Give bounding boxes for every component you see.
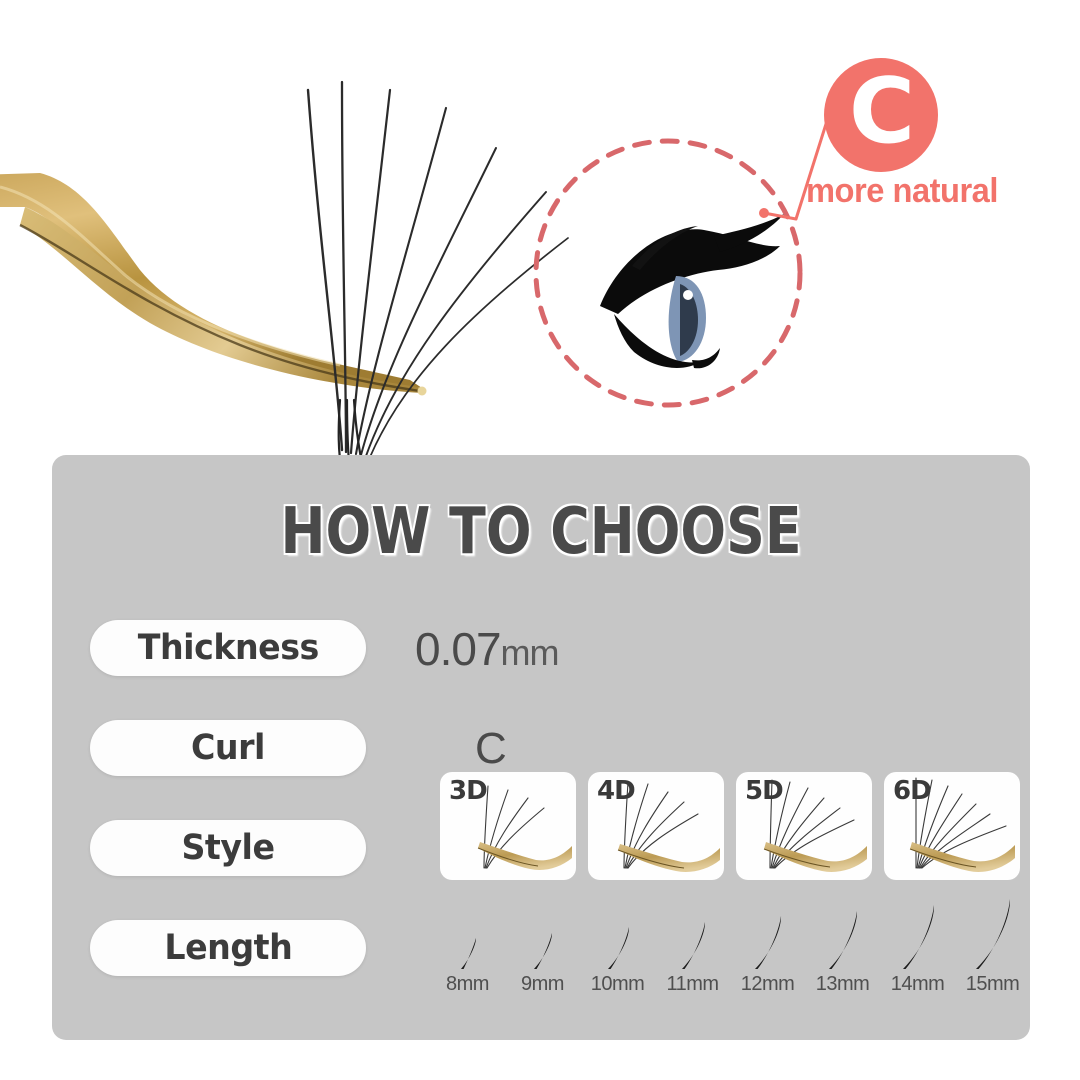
spec-row-thickness: Thickness 0.07mm — [90, 620, 1030, 690]
curl-badge-letter: C — [849, 67, 913, 157]
lash-curve-icon — [677, 917, 709, 971]
spec-label-text: Length — [164, 928, 292, 968]
spec-label-style: Style — [90, 820, 366, 876]
lash-curve-icon — [456, 933, 480, 971]
style-card-4d[interactable]: 4D — [588, 772, 724, 880]
spec-label-text: Style — [181, 828, 274, 868]
length-option[interactable]: 14mm — [880, 892, 955, 996]
length-label: 8mm — [446, 973, 489, 996]
curl-badge: C — [824, 58, 938, 172]
thickness-number: 0.07 — [415, 623, 501, 675]
lash-curve-icon — [603, 922, 633, 971]
length-label: 10mm — [591, 973, 645, 996]
spec-label-text: Thickness — [137, 628, 318, 668]
spec-label-text: Curl — [191, 728, 265, 768]
length-label: 12mm — [741, 973, 795, 996]
hero-section: C more natural — [0, 0, 1080, 460]
length-option[interactable]: 9mm — [505, 892, 580, 996]
style-option-list: 3D — [440, 772, 1030, 884]
lash-fan-icon — [250, 60, 570, 480]
length-label: 11mm — [666, 973, 718, 996]
length-label: 15mm — [966, 973, 1020, 996]
spec-label-length: Length — [90, 920, 366, 976]
style-card-6d[interactable]: 6D — [884, 772, 1020, 880]
length-option[interactable]: 15mm — [955, 892, 1030, 996]
lash-curve-icon — [898, 900, 938, 971]
page-title: HOW TO CHOOSE — [130, 495, 952, 569]
length-label: 14mm — [891, 973, 945, 996]
length-option[interactable]: 13mm — [805, 892, 880, 996]
spec-value-thickness: 0.07mm — [415, 622, 559, 676]
length-label: 13mm — [816, 973, 870, 996]
style-card-5d[interactable]: 5D — [736, 772, 872, 880]
length-option[interactable]: 12mm — [730, 892, 805, 996]
product-infographic: C more natural HOW TO CHOOSE Thickness 0… — [0, 0, 1080, 1080]
length-option[interactable]: 8mm — [430, 892, 505, 996]
lash-curve-icon — [529, 928, 556, 971]
length-label: 9mm — [521, 973, 564, 996]
spec-label-thickness: Thickness — [90, 620, 366, 676]
style-card-label: 6D — [893, 776, 931, 806]
callout-label: more natural — [806, 172, 1046, 211]
spec-row-length: Length 8mm9mm10mm11mm12mm13mm14mm15mm — [90, 920, 1030, 990]
length-option-list: 8mm9mm10mm11mm12mm13mm14mm15mm — [430, 892, 1030, 996]
spec-row-style: Style 3D — [90, 820, 1030, 890]
lash-curve-icon — [750, 911, 785, 971]
how-to-choose-panel: HOW TO CHOOSE Thickness 0.07mm Curl C St… — [52, 455, 1030, 1040]
spec-value-curl: C — [475, 724, 507, 774]
lash-curve-icon — [971, 894, 1014, 971]
style-card-label: 3D — [449, 776, 487, 806]
style-card-label: 5D — [745, 776, 783, 806]
length-option[interactable]: 10mm — [580, 892, 655, 996]
style-card-label: 4D — [597, 776, 635, 806]
length-option[interactable]: 11mm — [655, 892, 730, 996]
thickness-unit: mm — [501, 632, 559, 673]
spec-label-curl: Curl — [90, 720, 366, 776]
style-card-3d[interactable]: 3D — [440, 772, 576, 880]
lash-curve-icon — [824, 906, 861, 971]
